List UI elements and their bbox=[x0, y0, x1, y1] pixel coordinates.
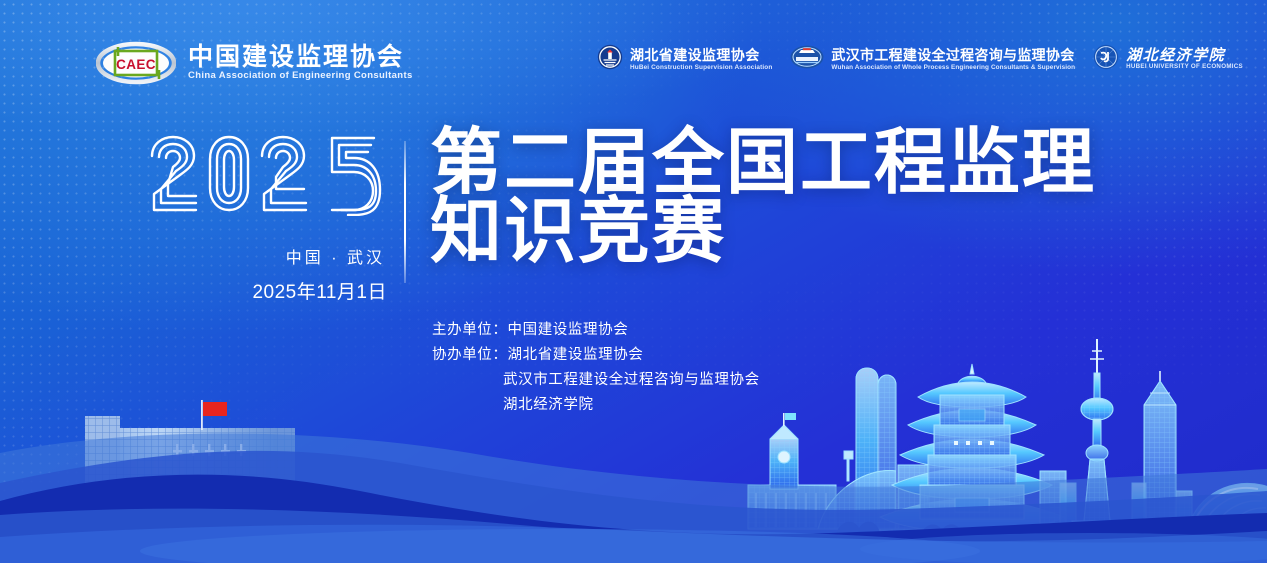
red-flag bbox=[203, 402, 227, 416]
hill-layer-3 bbox=[0, 475, 1267, 563]
caec-name-cn: 中国建设监理协会 bbox=[188, 44, 413, 70]
hill-layer-2 bbox=[0, 451, 1267, 563]
host-row: 主办单位：中国建设监理协会 bbox=[432, 318, 760, 343]
event-banner: CAEC 中国建设监理协会 China Association of Engin… bbox=[0, 0, 1267, 563]
partner-logo-row: 湖北省建设监理协会 HuBei Construction Supervision… bbox=[597, 44, 1243, 75]
skyline-shrubs bbox=[834, 522, 1212, 535]
wuhan-tv-tower bbox=[1072, 339, 1122, 531]
water-sheen bbox=[140, 529, 980, 563]
hill-layer-4 bbox=[0, 509, 1267, 563]
hubei-association-badge-icon bbox=[597, 44, 623, 75]
cohost-label: 协办单位： bbox=[432, 347, 508, 363]
year-block: 中国 · 武汉 2025年11月1日 bbox=[148, 132, 393, 304]
hubei-university-badge-icon bbox=[1093, 44, 1119, 75]
foreground-shrubs bbox=[58, 522, 295, 543]
hubei-university-name-cn: 湖北经济学院 bbox=[1126, 48, 1243, 64]
cohost-row-1: 协办单位：湖北省建设监理协会 bbox=[432, 343, 760, 368]
event-title: 第二届全国工程监理 知识竞赛 bbox=[430, 129, 1096, 267]
organizer-block: 主办单位：中国建设监理协会 协办单位：湖北省建设监理协会 武汉市工程建设全过程咨… bbox=[432, 318, 760, 418]
logo-hubei-university[interactable]: 湖北经济学院 HUBEI UNIVERSITY OF ECONOMICS bbox=[1093, 44, 1243, 75]
hubei-university-name-en: HUBEI UNIVERSITY OF ECONOMICS bbox=[1126, 64, 1243, 71]
cohost-value-1: 湖北省建设监理协会 bbox=[508, 347, 644, 363]
wuhan-association-badge-icon bbox=[790, 45, 824, 74]
hill-layer-5 bbox=[0, 525, 1267, 563]
event-date: 2025年11月1日 bbox=[148, 277, 393, 304]
event-location: 中国 · 武汉 bbox=[148, 244, 393, 268]
water-sheen-right bbox=[860, 533, 1267, 563]
wuhan-center-tower bbox=[856, 368, 896, 531]
wuhan-association-name-en: Wuhan Association of Whole Process Engin… bbox=[831, 64, 1075, 71]
wuhan-skyline-illustration bbox=[740, 333, 1267, 563]
caec-emblem-icon: CAEC bbox=[96, 40, 176, 86]
event-title-line2: 知识竞赛 bbox=[430, 198, 1096, 267]
hubei-association-name-en: HuBei Construction Supervision Associati… bbox=[630, 64, 772, 71]
logo-caec[interactable]: CAEC 中国建设监理协会 China Association of Engin… bbox=[96, 40, 413, 86]
svg-text:CAEC: CAEC bbox=[116, 57, 156, 72]
hubei-association-name-cn: 湖北省建设监理协会 bbox=[630, 48, 772, 63]
logo-wuhan-association[interactable]: 武汉市工程建设全过程咨询与监理协会 Wuhan Association of W… bbox=[790, 45, 1075, 74]
title-divider bbox=[404, 141, 406, 283]
gate-inscription bbox=[173, 444, 246, 456]
event-title-line1: 第二届全国工程监理 bbox=[430, 129, 1096, 198]
logo-strip: CAEC 中国建设监理协会 China Association of Engin… bbox=[0, 0, 1267, 110]
hankou-customs-house bbox=[748, 413, 836, 529]
host-value: 中国建设监理协会 bbox=[508, 322, 629, 338]
host-label: 主办单位： bbox=[432, 322, 508, 338]
hubei-university-gate-illustration bbox=[40, 398, 340, 563]
hill-layer-1 bbox=[0, 433, 1267, 563]
sports-centre bbox=[818, 451, 896, 529]
flagpole bbox=[201, 400, 203, 430]
wuhan-grand-theatre bbox=[1188, 483, 1267, 529]
minsheng-bank-building bbox=[1132, 371, 1192, 529]
cohost-row-3: 湖北经济学院 bbox=[432, 393, 760, 418]
year-2025-graphic bbox=[148, 132, 382, 216]
wuhan-association-name-cn: 武汉市工程建设全过程咨询与监理协会 bbox=[831, 48, 1075, 63]
caec-name-en: China Association of Engineering Consult… bbox=[188, 71, 413, 81]
yellow-crane-tower bbox=[868, 364, 1076, 557]
cohost-row-2: 武汉市工程建设全过程咨询与监理协会 bbox=[432, 368, 760, 393]
logo-hubei-association[interactable]: 湖北省建设监理协会 HuBei Construction Supervision… bbox=[597, 44, 772, 75]
